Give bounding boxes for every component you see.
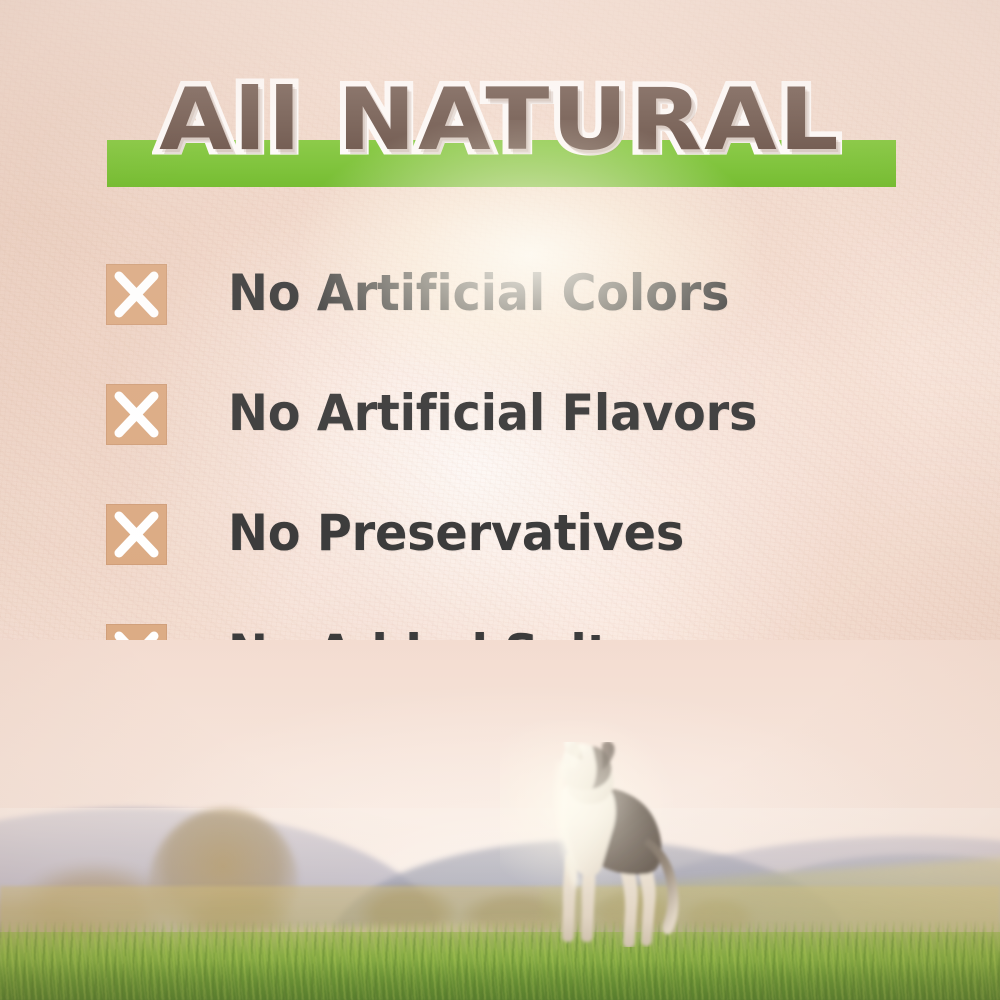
poster: All NATURAL No Artificial Colors xyxy=(0,0,1000,1000)
vignette xyxy=(0,0,1000,1000)
